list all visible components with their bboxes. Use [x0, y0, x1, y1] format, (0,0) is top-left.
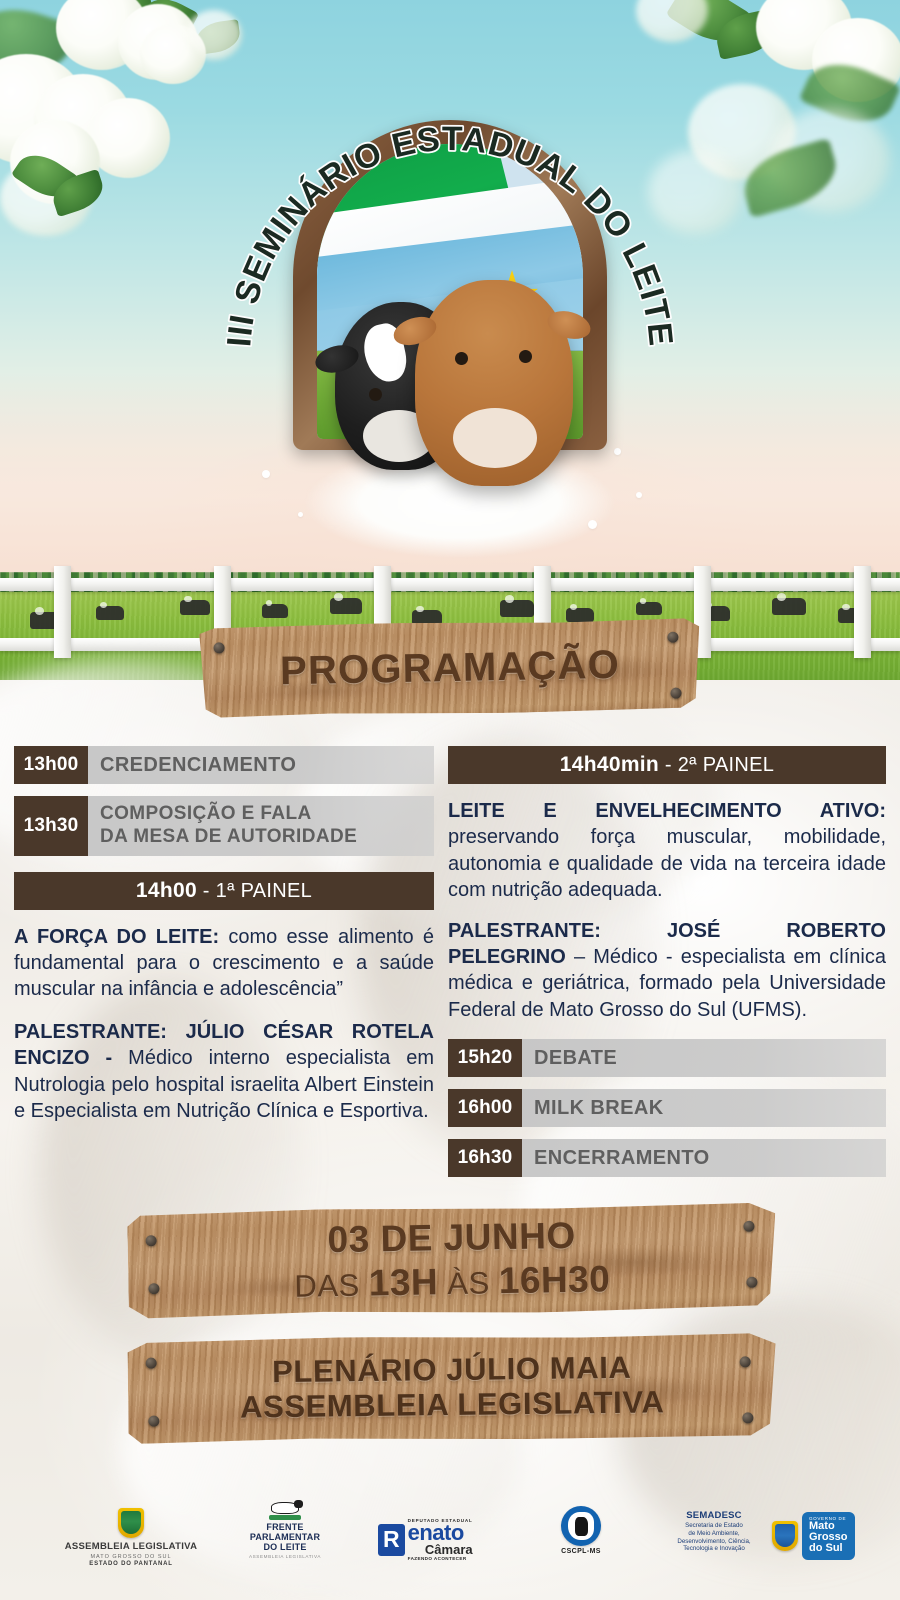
date-line-2: DAS 13H ÀS 16H30: [294, 1258, 611, 1306]
footer-logos: ASSEMBLEIA LEGISLATIVA MATO GROSSO DO SU…: [0, 1486, 900, 1600]
gov-line-3: do Sul: [809, 1543, 848, 1554]
logo-semadesc[interactable]: SEMADESC Secretaria de Estado de Meio Am…: [660, 1510, 768, 1553]
panel-2-speaker: PALESTRANTE: JOSÉ ROBERTO PELEGRINO – Mé…: [448, 918, 886, 1024]
renato-surname: Câmara: [408, 1543, 473, 1556]
schedule-row[interactable]: 16h30 ENCERRAMENTO: [448, 1139, 886, 1177]
poster-root: III SEMINÁRIO ESTADUAL DO LEITE PROGRAMA…: [0, 0, 900, 1600]
panel-header-1: 14h00 - 1ª PAINEL: [14, 872, 434, 910]
panel-2-name: 2ª PAINEL: [678, 754, 774, 776]
panel-1-time: 14h00: [136, 879, 197, 902]
logo-assembleia-legislativa[interactable]: ASSEMBLEIA LEGISLATIVA MATO GROSSO DO SU…: [46, 1508, 216, 1567]
schedule-desc: MILK BREAK: [522, 1089, 676, 1127]
frente-line-2: PARLAMENTAR: [230, 1532, 340, 1542]
schedule-row[interactable]: 16h00 MILK BREAK: [448, 1089, 886, 1127]
programacao-sign: PROGRAMAÇÃO: [199, 617, 701, 719]
assembleia-sub: MATO GROSSO DO SUL: [46, 1554, 216, 1560]
programacao-label: PROGRAMAÇÃO: [280, 642, 621, 694]
schedule-column-right: 14h40min - 2ª PAINEL LEITE E ENVELHECIME…: [448, 746, 886, 1189]
frente-sub: ASSEMBLEIA LEGISLATIVA: [230, 1554, 340, 1559]
frente-line-1: FRENTE: [230, 1522, 340, 1532]
renato-name: enato: [408, 1523, 473, 1543]
venue-line-2: ASSEMBLEIA LEGISLATIVA: [240, 1385, 665, 1425]
frente-line-3: DO LEITE: [230, 1542, 340, 1552]
panel-1-sep: -: [197, 880, 216, 902]
assembleia-sub2: ESTADO DO PANTANAL: [46, 1561, 216, 1567]
logo-governo-mato-grosso-do-sul[interactable]: GOVERNO DE Mato Grosso do Sul: [772, 1512, 855, 1560]
venue-line-1: PLENÁRIO JÚLIO MAIA: [272, 1351, 632, 1390]
panel-2-description: LEITE E ENVELHECIMENTO ATIVO: preservand…: [448, 798, 886, 904]
event-emblem: [293, 120, 607, 450]
date-time-start: 13H: [368, 1261, 438, 1303]
semadesc-sub: Secretaria de Estado de Meio Ambiente, D…: [660, 1522, 768, 1553]
date-sign: 03 DE JUNHO DAS 13H ÀS 16H30: [127, 1200, 777, 1319]
panel-1-title: A FORÇA DO LEITE:: [14, 926, 219, 948]
ms-state-shield-icon: [772, 1521, 798, 1551]
date-line-1: 03 DE JUNHO: [327, 1215, 576, 1261]
panel-2-sep: -: [659, 754, 678, 776]
panel-1-description: A FORÇA DO LEITE: como esse alimento é f…: [14, 924, 434, 1003]
schedule-row[interactable]: 13h00 CREDENCIAMENTO: [14, 746, 434, 784]
renato-initial: R: [378, 1524, 405, 1556]
panel-header-2: 14h40min - 2ª PAINEL: [448, 746, 886, 784]
schedule-time: 16h30: [448, 1139, 522, 1177]
venue-sign: PLENÁRIO JÚLIO MAIA ASSEMBLEIA LEGISLATI…: [127, 1332, 776, 1444]
schedule-desc: ENCERRAMENTO: [522, 1139, 722, 1177]
date-prefix: DAS: [294, 1267, 369, 1303]
schedule-column-left: 13h00 CREDENCIAMENTO 13h30 COMPOSIÇÃO E …: [14, 746, 434, 1140]
logo-frente-parlamentar-do-leite[interactable]: FRENTE PARLAMENTAR DO LEITE ASSEMBLEIA L…: [230, 1500, 340, 1559]
renato-text: DEPUTADO ESTADUAL enato Câmara FAZENDO A…: [408, 1518, 473, 1561]
assembleia-name: ASSEMBLEIA LEGISLATIVA: [46, 1541, 216, 1552]
logo-renato-camara[interactable]: R DEPUTADO ESTADUAL enato Câmara FAZENDO…: [378, 1518, 473, 1561]
schedule-desc: DEBATE: [522, 1039, 629, 1077]
panel-2-body: preservando força muscular, mobilidade, …: [448, 826, 886, 901]
jersey-cow: [415, 280, 573, 486]
schedule-row[interactable]: 15h20 DEBATE: [448, 1039, 886, 1077]
panel-2-title: LEITE E ENVELHECIMENTO ATIVO:: [448, 800, 886, 822]
panel-1-speaker: PALESTRANTE: JÚLIO CÉSAR ROTELA ENCIZO -…: [14, 1019, 434, 1125]
schedule-desc: CREDENCIAMENTO: [88, 746, 308, 784]
logo-cscpl-ms[interactable]: CSCPL-MS: [546, 1506, 616, 1555]
semadesc-name: SEMADESC: [660, 1510, 768, 1521]
gov-pill: GOVERNO DE Mato Grosso do Sul: [802, 1512, 855, 1560]
cscpl-cow-map-icon: [561, 1506, 601, 1546]
schedule-time: 13h30: [14, 796, 88, 856]
schedule-row[interactable]: 13h30 COMPOSIÇÃO E FALA DA MESA DE AUTOR…: [14, 796, 434, 856]
schedule-time: 16h00: [448, 1089, 522, 1127]
renato-tag: FAZENDO ACONTECER: [408, 1556, 473, 1561]
ms-coat-of-arms-icon: [118, 1508, 144, 1538]
panel-1-name: 1ª PAINEL: [216, 880, 312, 902]
date-mid: ÀS: [438, 1265, 499, 1301]
panel-2-time: 14h40min: [560, 753, 659, 776]
schedule-time: 15h20: [448, 1039, 522, 1077]
cow-icon: [267, 1500, 303, 1520]
cscpl-label: CSCPL-MS: [546, 1548, 616, 1555]
date-time-end: 16H30: [498, 1258, 610, 1301]
schedule-time: 13h00: [14, 746, 88, 784]
schedule-desc: COMPOSIÇÃO E FALA DA MESA DE AUTORIDADE: [88, 796, 369, 856]
